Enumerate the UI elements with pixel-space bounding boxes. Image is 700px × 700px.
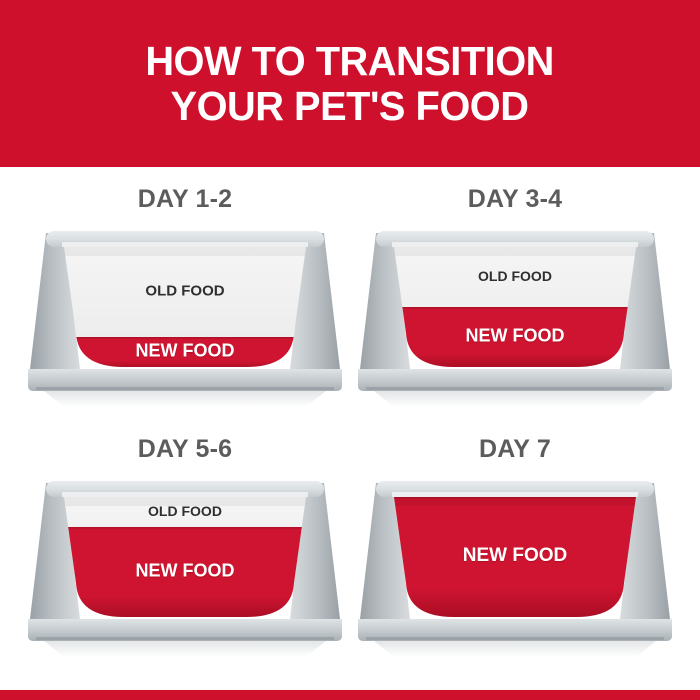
food-top-shade	[358, 246, 672, 256]
bowl-reflection	[44, 391, 326, 407]
day-label: DAY 7	[350, 435, 680, 464]
bowl-graphic	[358, 227, 672, 407]
food-split-line	[28, 527, 342, 529]
food-bowl: OLD FOODNEW FOOD	[28, 227, 342, 407]
food-bowl: OLD FOODNEW FOOD	[28, 477, 342, 657]
bowl-base-shadow	[366, 637, 664, 640]
day-label: DAY 5-6	[20, 435, 350, 464]
food-top-shade	[28, 496, 342, 506]
step-panel-day-1-2: DAY 1-2	[20, 185, 350, 435]
header-title-line-1: HOW TO TRANSITION	[146, 39, 555, 84]
food-bowl: OLD FOODNEW FOOD	[358, 227, 672, 407]
bowl-reflection	[374, 641, 656, 657]
header-banner: HOW TO TRANSITION YOUR PET'S FOOD	[0, 0, 700, 167]
bowl-rim-inner-lip	[62, 242, 308, 247]
infographic-root: HOW TO TRANSITION YOUR PET'S FOOD DAY 1-…	[0, 0, 700, 700]
bowl-rim-inner-lip	[392, 492, 638, 497]
footer-accent-bar	[0, 690, 700, 700]
food-top-shade	[358, 496, 672, 506]
bowl-base-shadow	[366, 387, 664, 390]
food-top-shade	[28, 246, 342, 256]
day-label: DAY 1-2	[20, 185, 350, 214]
bowl-graphic	[28, 227, 342, 407]
food-split-line	[358, 307, 672, 309]
bowl-base-shadow	[36, 637, 334, 640]
bowl-reflection	[374, 391, 656, 407]
header-title-line-2: YOUR PET'S FOOD	[171, 84, 529, 129]
bowl-reflection	[44, 641, 326, 657]
bowl-rim-inner-lip	[392, 242, 638, 247]
bowl-rim-inner-lip	[62, 492, 308, 497]
bowl-graphic	[358, 477, 672, 657]
food-bowl: NEW FOOD	[358, 477, 672, 657]
bowl-graphic	[28, 477, 342, 657]
bowl-base-shadow	[36, 387, 334, 390]
step-panel-day-5-6: DAY 5-6	[20, 435, 350, 685]
day-label: DAY 3-4	[350, 185, 680, 214]
step-panel-day-7: DAY 7	[350, 435, 680, 685]
step-panel-day-3-4: DAY 3-4	[350, 185, 680, 435]
